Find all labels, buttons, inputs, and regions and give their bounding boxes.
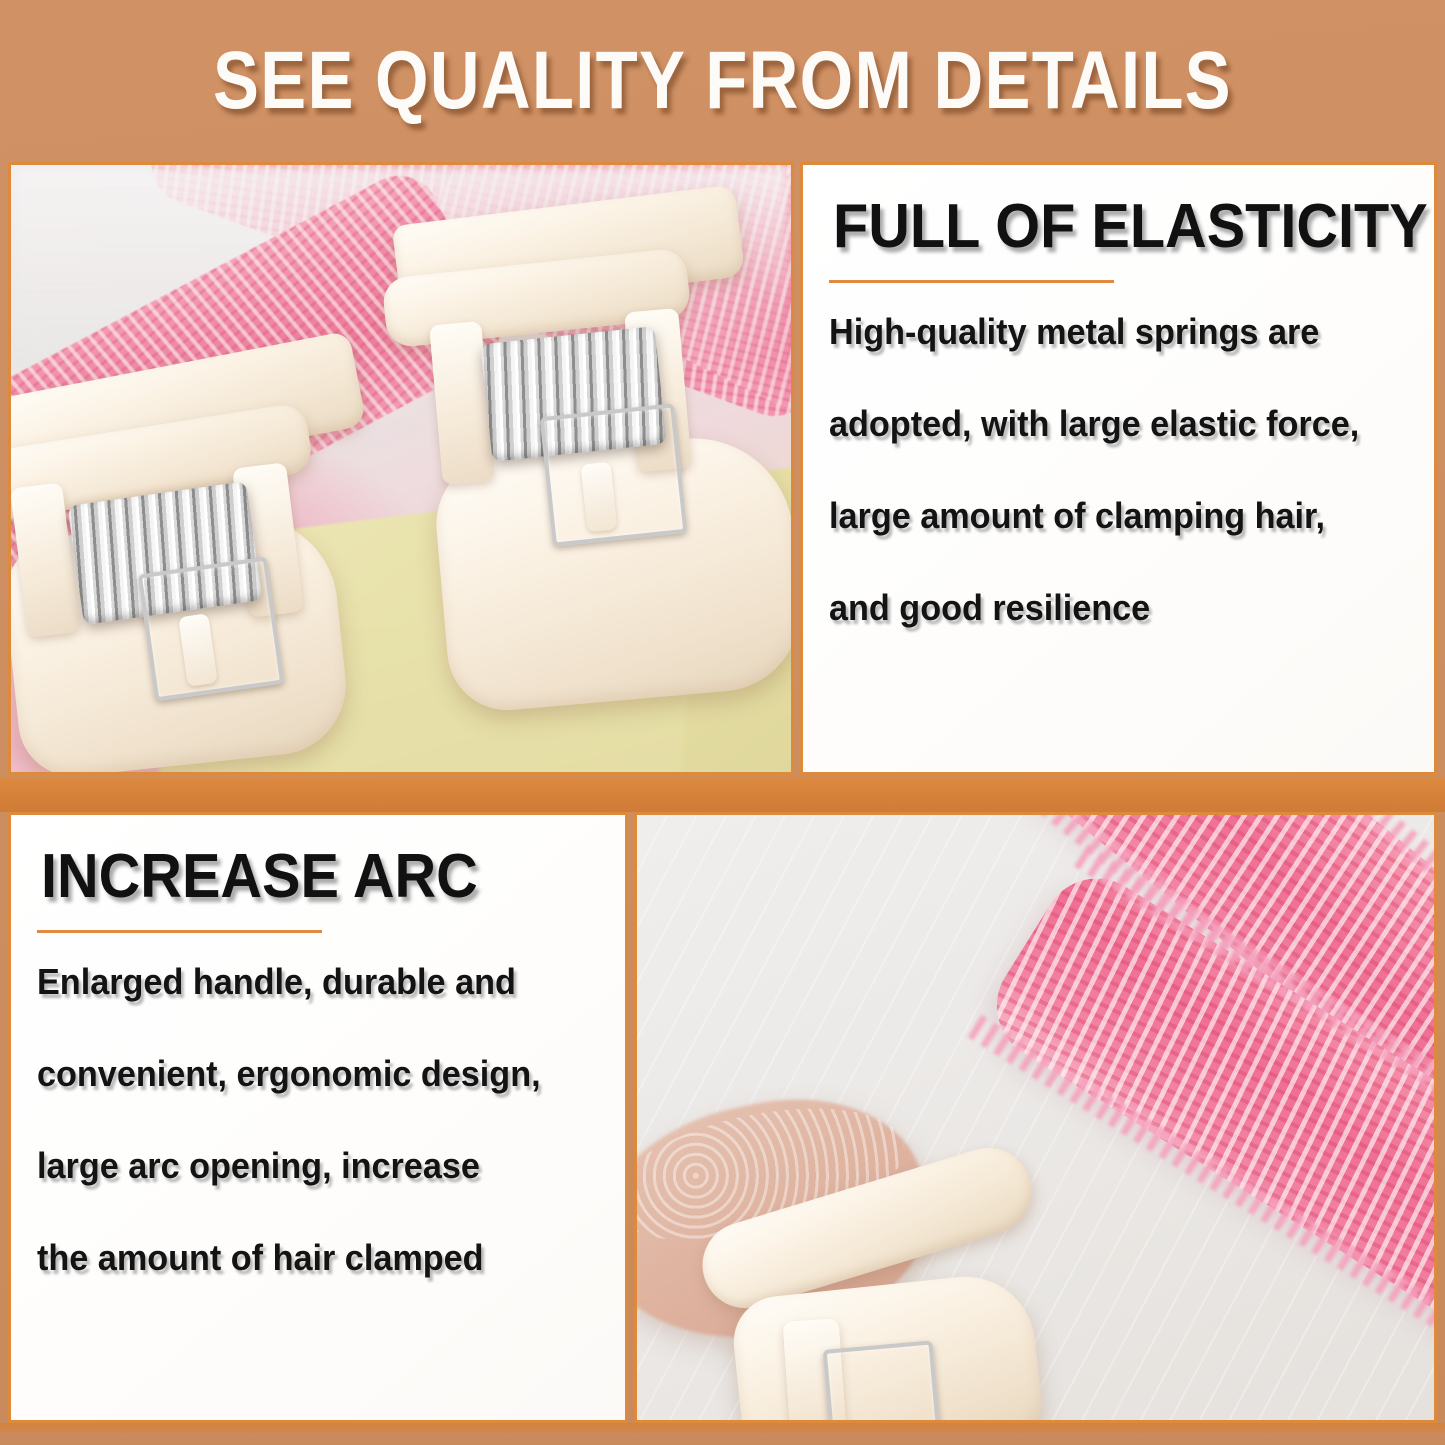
infographic-page: SEE QUALITY FROM DETAILS: [0, 0, 1445, 1445]
roller-clip-left: [8, 315, 401, 745]
roller-clip-right: [366, 195, 794, 675]
description-line: large arc opening, increase: [37, 1147, 571, 1185]
feature-photo-elasticity: [8, 162, 794, 775]
header-banner: SEE QUALITY FROM DETAILS: [0, 0, 1445, 162]
description-line: High-quality metal springs are: [829, 313, 1379, 351]
hair-roller-arc-opening-closeup: [637, 815, 1434, 1420]
feature-photo-increase-arc: [634, 812, 1437, 1423]
roller-clip-arc: [667, 1145, 1087, 1423]
feature-text-elasticity: FULL OF ELASTICITY High-quality metal sp…: [800, 162, 1437, 775]
description-line: convenient, ergonomic design,: [37, 1055, 571, 1093]
description-line: and good resilience: [829, 589, 1379, 627]
page-title: SEE QUALITY FROM DETAILS: [213, 40, 1232, 122]
feature-title-increase-arc: INCREASE ARC: [41, 845, 560, 908]
row-divider: [0, 777, 1445, 812]
description-line: the amount of hair clamped: [37, 1239, 571, 1277]
feature-description-increase-arc: Enlarged handle, durable and convenient,…: [37, 963, 599, 1276]
description-line: large amount of clamping hair,: [829, 497, 1379, 535]
description-line: adopted, with large elastic force,: [829, 405, 1379, 443]
bottom-band: [0, 1423, 1445, 1445]
metal-wire-loop: [823, 1340, 942, 1423]
feature-description-elasticity: High-quality metal springs are adopted, …: [829, 313, 1408, 626]
description-line: Enlarged handle, durable and: [37, 963, 571, 1001]
hair-roller-clip-spring-closeup: [11, 165, 791, 772]
feature-text-increase-arc: INCREASE ARC Enlarged handle, durable an…: [8, 812, 628, 1423]
title-underline: [829, 280, 1114, 283]
title-underline: [37, 930, 322, 933]
feature-title-elasticity: FULL OF ELASTICITY: [833, 195, 1368, 258]
